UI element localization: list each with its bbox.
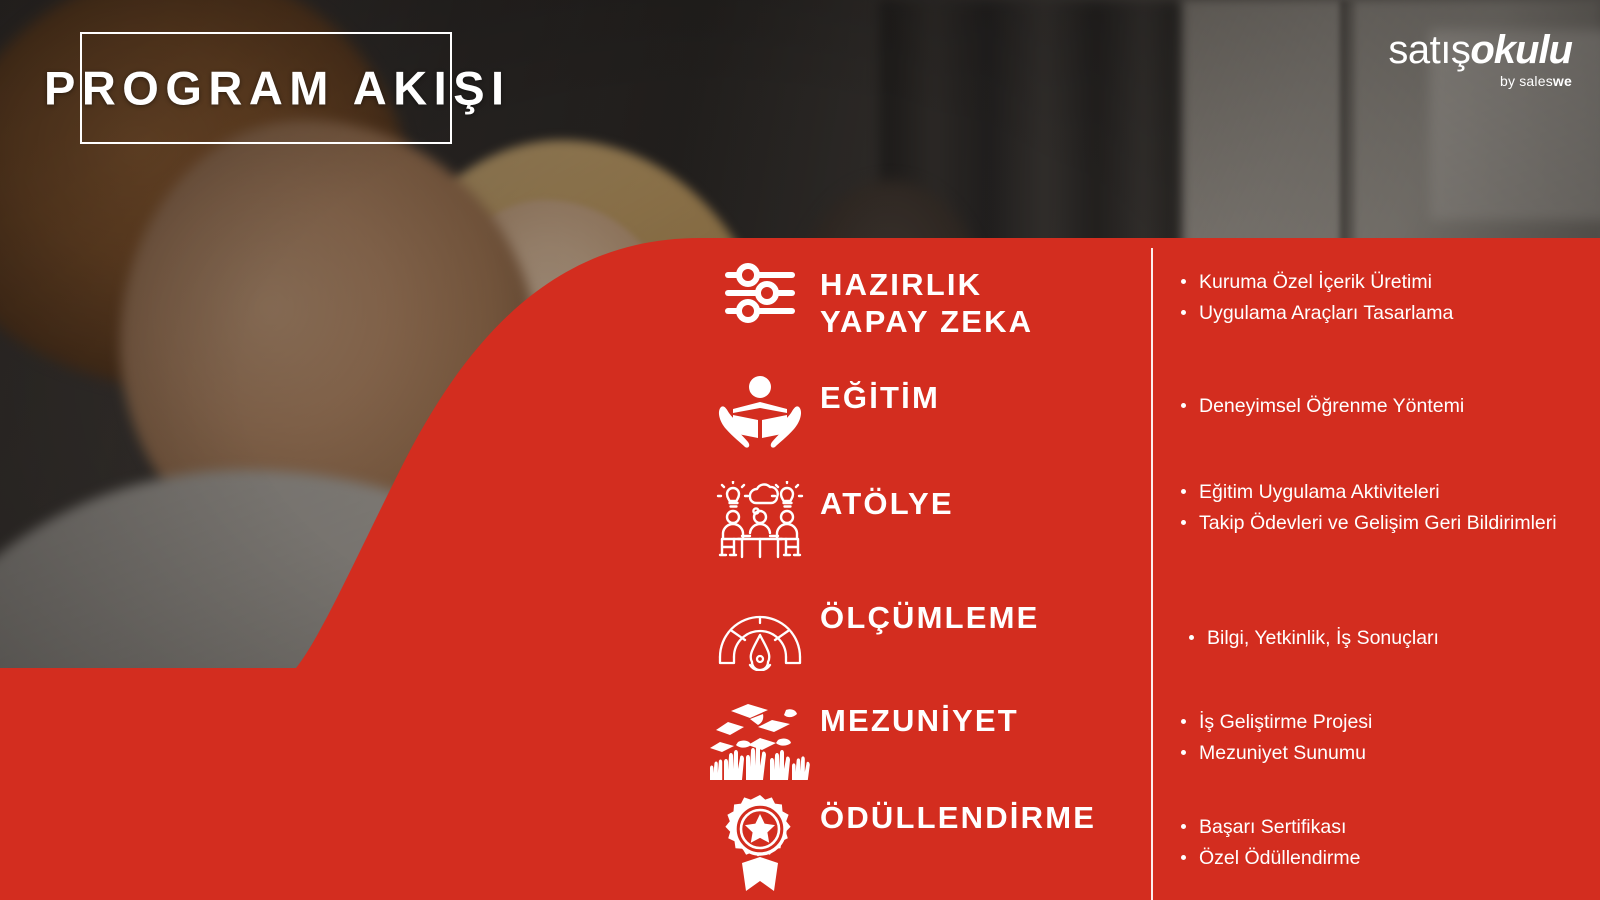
list-item: Bilgi, Yetkinlik, İş Sonuçları — [1186, 624, 1578, 652]
sliders-settings-icon — [700, 262, 820, 324]
program-bullets-olcumleme: Bilgi, Yetkinlik, İş Sonuçları — [1178, 624, 1578, 655]
list-item: Özel Ödüllendirme — [1178, 844, 1578, 872]
program-flow-list: HAZIRLIK YAPAY ZEKA Kuruma Özel İçerik Ü… — [0, 0, 1600, 900]
list-item: Takip Ödevleri ve Gelişim Geri Bildiriml… — [1178, 509, 1578, 537]
program-bullets-mezuniyet: İş Geliştirme Projesi Mezuniyet Sunumu — [1178, 708, 1578, 771]
list-item: İş Geliştirme Projesi — [1178, 708, 1578, 736]
workshop-table-people-icon — [700, 481, 820, 559]
award-rosette-ribbon-icon — [700, 795, 820, 893]
program-bullets-atolye: Eğitim Uygulama Aktiviteleri Takip Ödevl… — [1178, 478, 1578, 541]
program-bullets-hazirlik: Kuruma Özel İçerik Üretimi Uygulama Araç… — [1178, 268, 1578, 331]
list-item: Eğitim Uygulama Aktiviteleri — [1178, 478, 1578, 506]
slide-canvas: PROGRAM AKIŞI satışokulu by saleswe — [0, 0, 1600, 900]
list-item: Kuruma Özel İçerik Üretimi — [1178, 268, 1578, 296]
list-item: Başarı Sertifikası — [1178, 813, 1578, 841]
list-item: Uygulama Araçları Tasarlama — [1178, 299, 1578, 327]
program-bullets-egitim: Deneyimsel Öğrenme Yöntemi — [1178, 392, 1578, 423]
list-item: Mezuniyet Sunumu — [1178, 739, 1578, 767]
graduation-caps-hands-icon — [700, 698, 820, 782]
gauge-measurement-icon — [700, 595, 820, 671]
education-hands-book-icon — [700, 375, 820, 449]
program-bullets-odullendirme: Başarı Sertifikası Özel Ödüllendirme — [1178, 813, 1578, 876]
list-item: Deneyimsel Öğrenme Yöntemi — [1178, 392, 1578, 420]
